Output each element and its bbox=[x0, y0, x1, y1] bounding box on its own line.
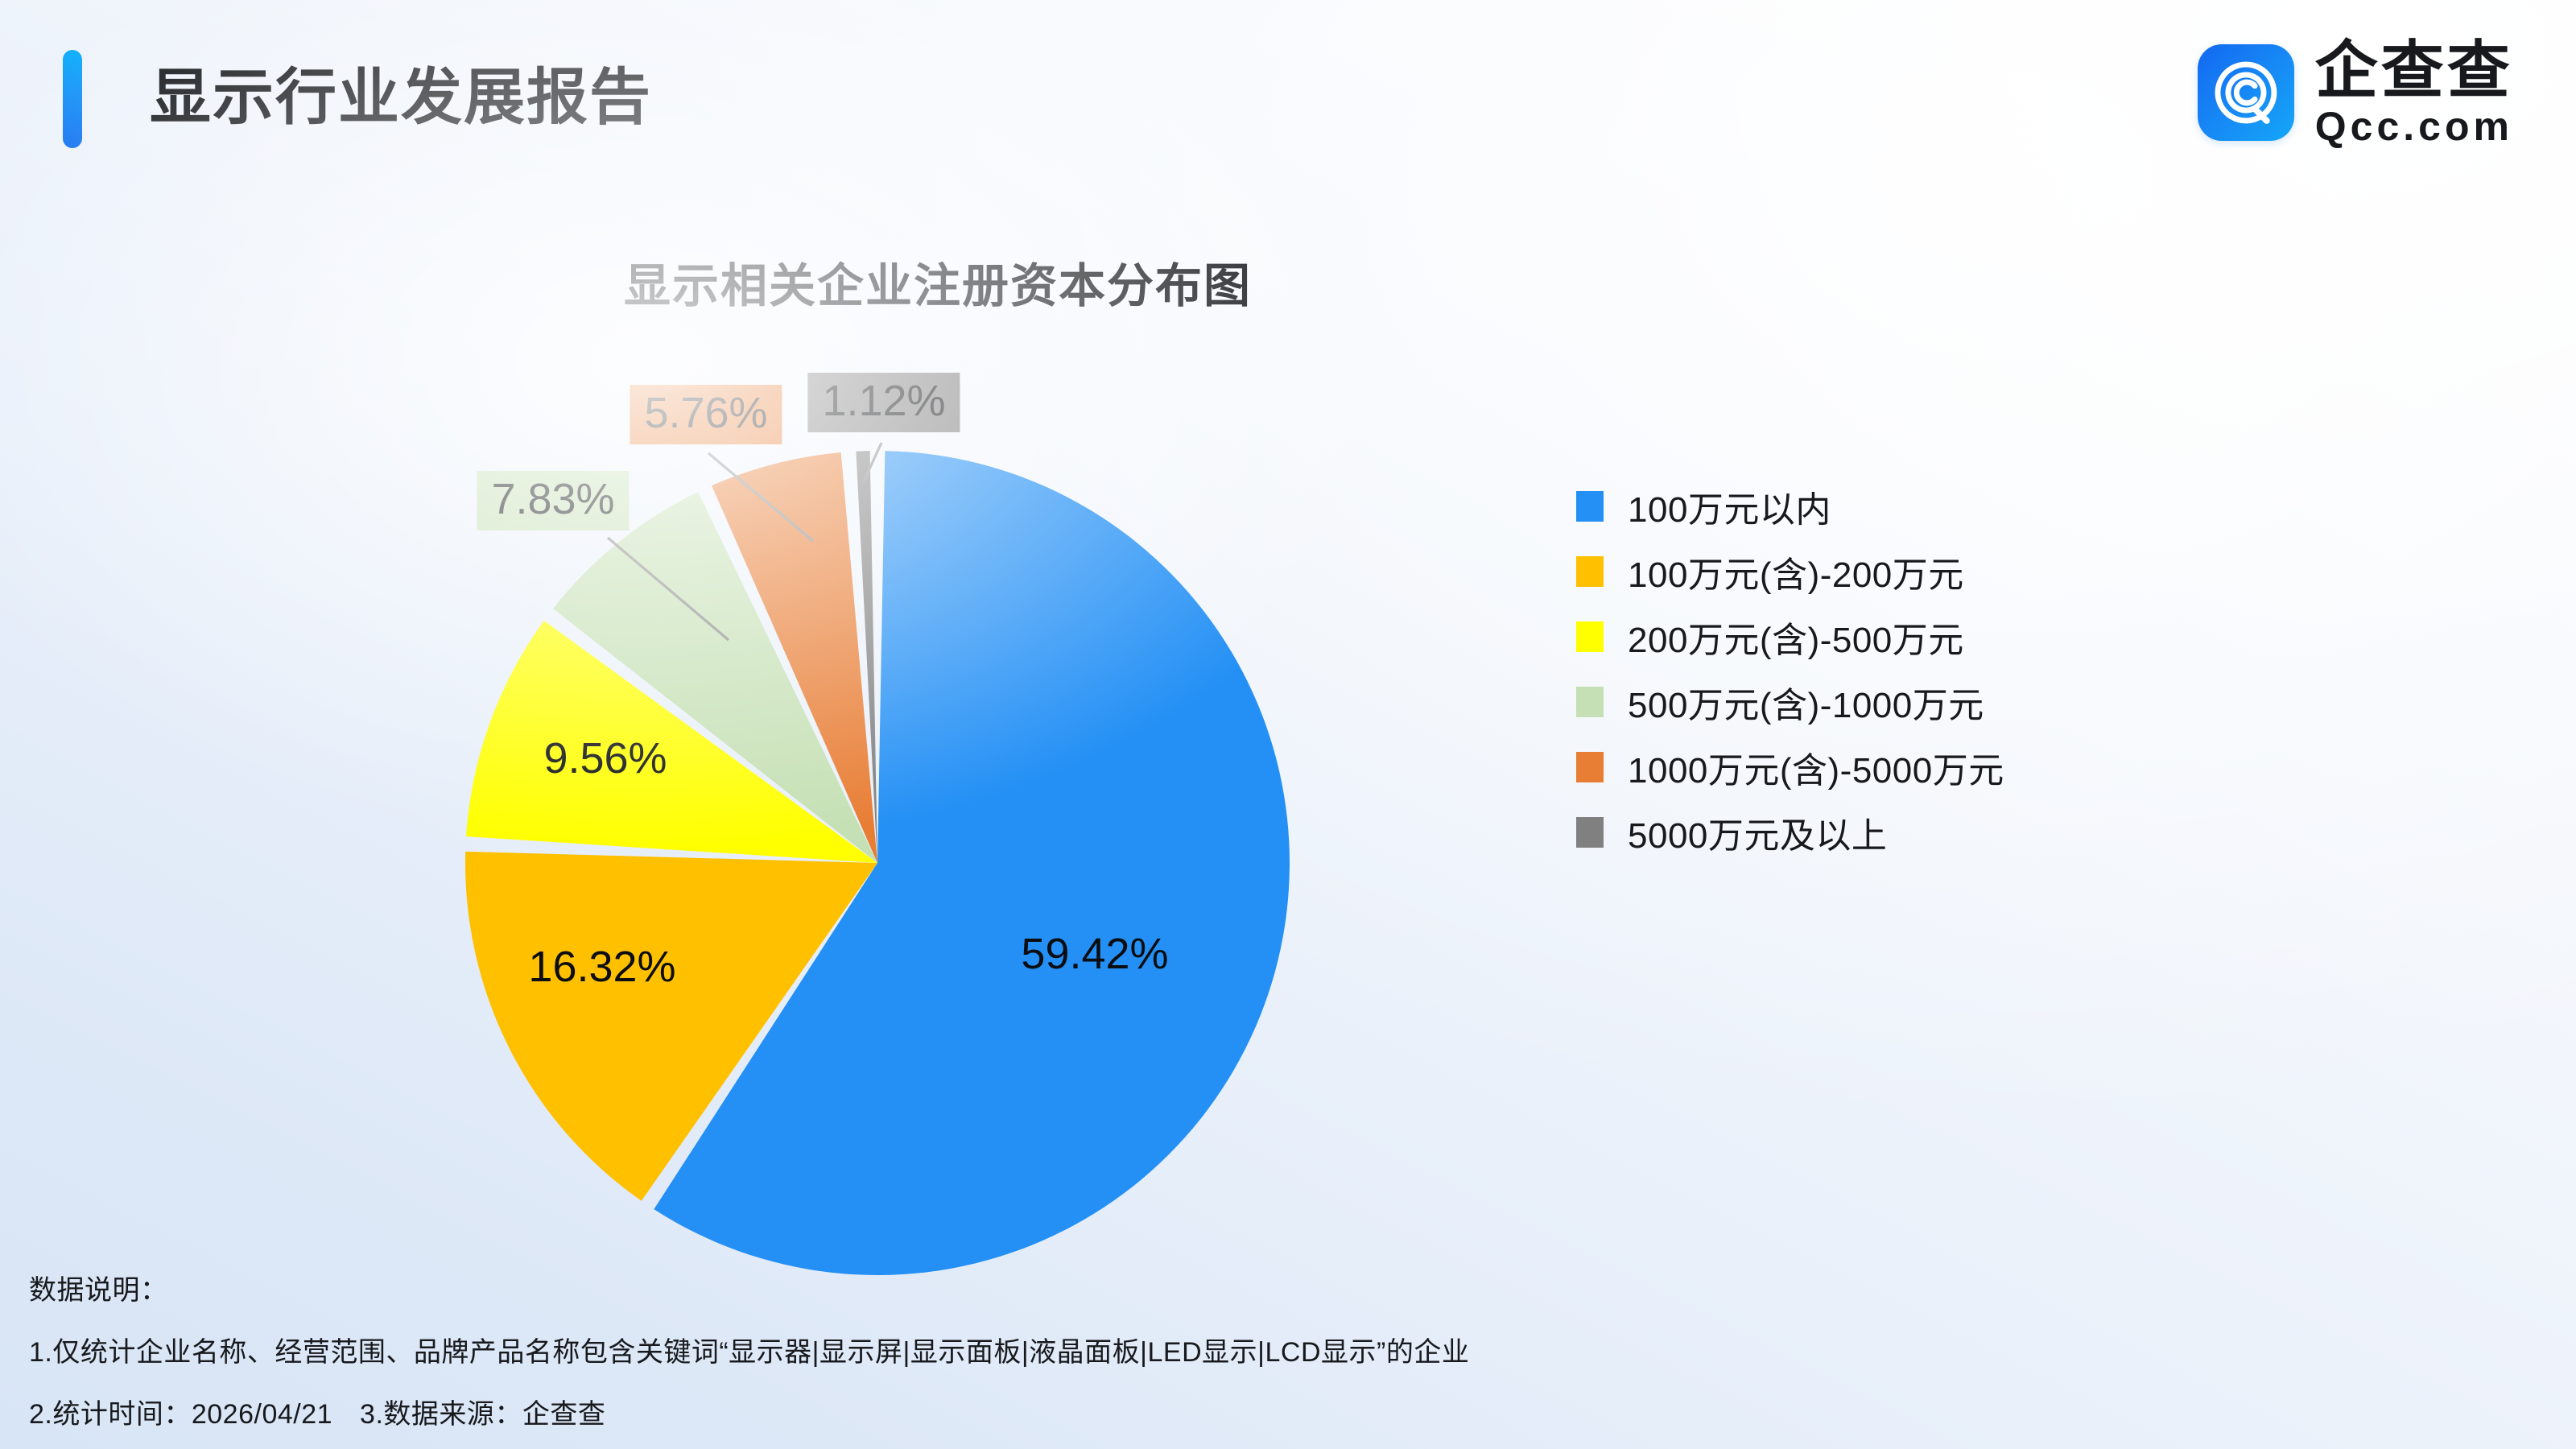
legend-swatch-icon bbox=[1576, 621, 1604, 652]
legend-item-label: 200万元(含)-500万元 bbox=[1628, 611, 1964, 663]
pie-slice[interactable] bbox=[654, 451, 1290, 1275]
legend-item[interactable]: 100万元以内 bbox=[1576, 473, 2004, 539]
legend-swatch-icon bbox=[1576, 491, 1604, 522]
legend-item[interactable]: 5000万元及以上 bbox=[1576, 799, 2004, 865]
footer-notes: 数据说明： 1.仅统计企业名称、经营范围、品牌产品名称包含关键词“显示器|显示屏… bbox=[29, 1268, 2202, 1431]
footer-note-line2: 2.统计时间：2026/04/213.数据来源：企查查 bbox=[29, 1392, 2202, 1431]
pie-slice[interactable] bbox=[465, 852, 877, 1201]
legend-swatch-icon bbox=[1576, 817, 1604, 848]
brand-name-cn: 企查查 bbox=[2315, 39, 2513, 101]
callout-leader-lines bbox=[608, 443, 881, 640]
callout-leader-line bbox=[608, 538, 729, 640]
callout-leader-line bbox=[708, 453, 813, 541]
pie-callout-label: 5.76% bbox=[630, 385, 782, 444]
brand-logo: 企查查 Qcc.com bbox=[2198, 39, 2513, 147]
legend-item-label: 500万元(含)-1000万元 bbox=[1628, 676, 1984, 728]
footer-note-1: 1.仅统计企业名称、经营范围、品牌产品名称包含关键词“显示器|显示屏|显示面板|… bbox=[29, 1330, 2202, 1369]
legend-item-label: 1000万元(含)-5000万元 bbox=[1628, 741, 2004, 793]
legend-item[interactable]: 100万元(含)-200万元 bbox=[1576, 539, 2004, 604]
chart-legend: 100万元以内100万元(含)-200万元200万元(含)-500万元500万元… bbox=[1576, 473, 2004, 865]
footer-note-3: 3.数据来源：企查查 bbox=[360, 1399, 605, 1430]
qcc-q-logo-icon bbox=[2198, 44, 2294, 141]
footer-heading: 数据说明： bbox=[29, 1268, 2202, 1307]
pie-slice[interactable] bbox=[553, 492, 877, 863]
pie-callout-label: 1.12% bbox=[807, 373, 960, 432]
pie-slice-group bbox=[465, 451, 1290, 1275]
legend-item[interactable]: 500万元(含)-1000万元 bbox=[1576, 669, 2004, 734]
legend-item-label: 100万元以内 bbox=[1628, 481, 1831, 532]
legend-swatch-icon bbox=[1576, 556, 1604, 587]
pie-slice[interactable] bbox=[856, 451, 877, 863]
legend-swatch-icon bbox=[1576, 752, 1604, 782]
accent-bar-icon bbox=[63, 50, 82, 148]
legend-item-label: 100万元(含)-200万元 bbox=[1628, 546, 1964, 597]
pie-value-label: 9.56% bbox=[543, 733, 667, 783]
header: 显示行业发展报告 企查查 Qcc.com bbox=[0, 0, 2576, 201]
footer-note-2: 2.统计时间：2026/04/21 bbox=[29, 1399, 332, 1430]
brand-name-en: Qcc.com bbox=[2315, 106, 2513, 147]
brand-wordmark: 企查查 Qcc.com bbox=[2315, 39, 2513, 147]
legend-swatch-icon bbox=[1576, 687, 1604, 717]
pie-value-label: 59.42% bbox=[1021, 929, 1168, 979]
pie-slice[interactable] bbox=[712, 452, 877, 863]
page-title: 显示行业发展报告 bbox=[150, 42, 652, 155]
pie-callout-label: 7.83% bbox=[477, 471, 629, 530]
legend-item[interactable]: 1000万元(含)-5000万元 bbox=[1576, 734, 2004, 799]
pie-chart bbox=[0, 0, 2576, 1449]
legend-item[interactable]: 200万元(含)-500万元 bbox=[1576, 604, 2004, 669]
legend-item-label: 5000万元及以上 bbox=[1628, 807, 1887, 858]
pie-value-label: 16.32% bbox=[528, 942, 675, 992]
slide-canvas: 显示行业发展报告 企查查 Qcc.com 显示相关企业注册资本分布图 bbox=[0, 0, 2576, 1449]
pie-slice[interactable] bbox=[466, 621, 877, 863]
chart-title: 显示相关企业注册资本分布图 bbox=[0, 248, 1876, 316]
callout-leader-line bbox=[863, 443, 881, 483]
